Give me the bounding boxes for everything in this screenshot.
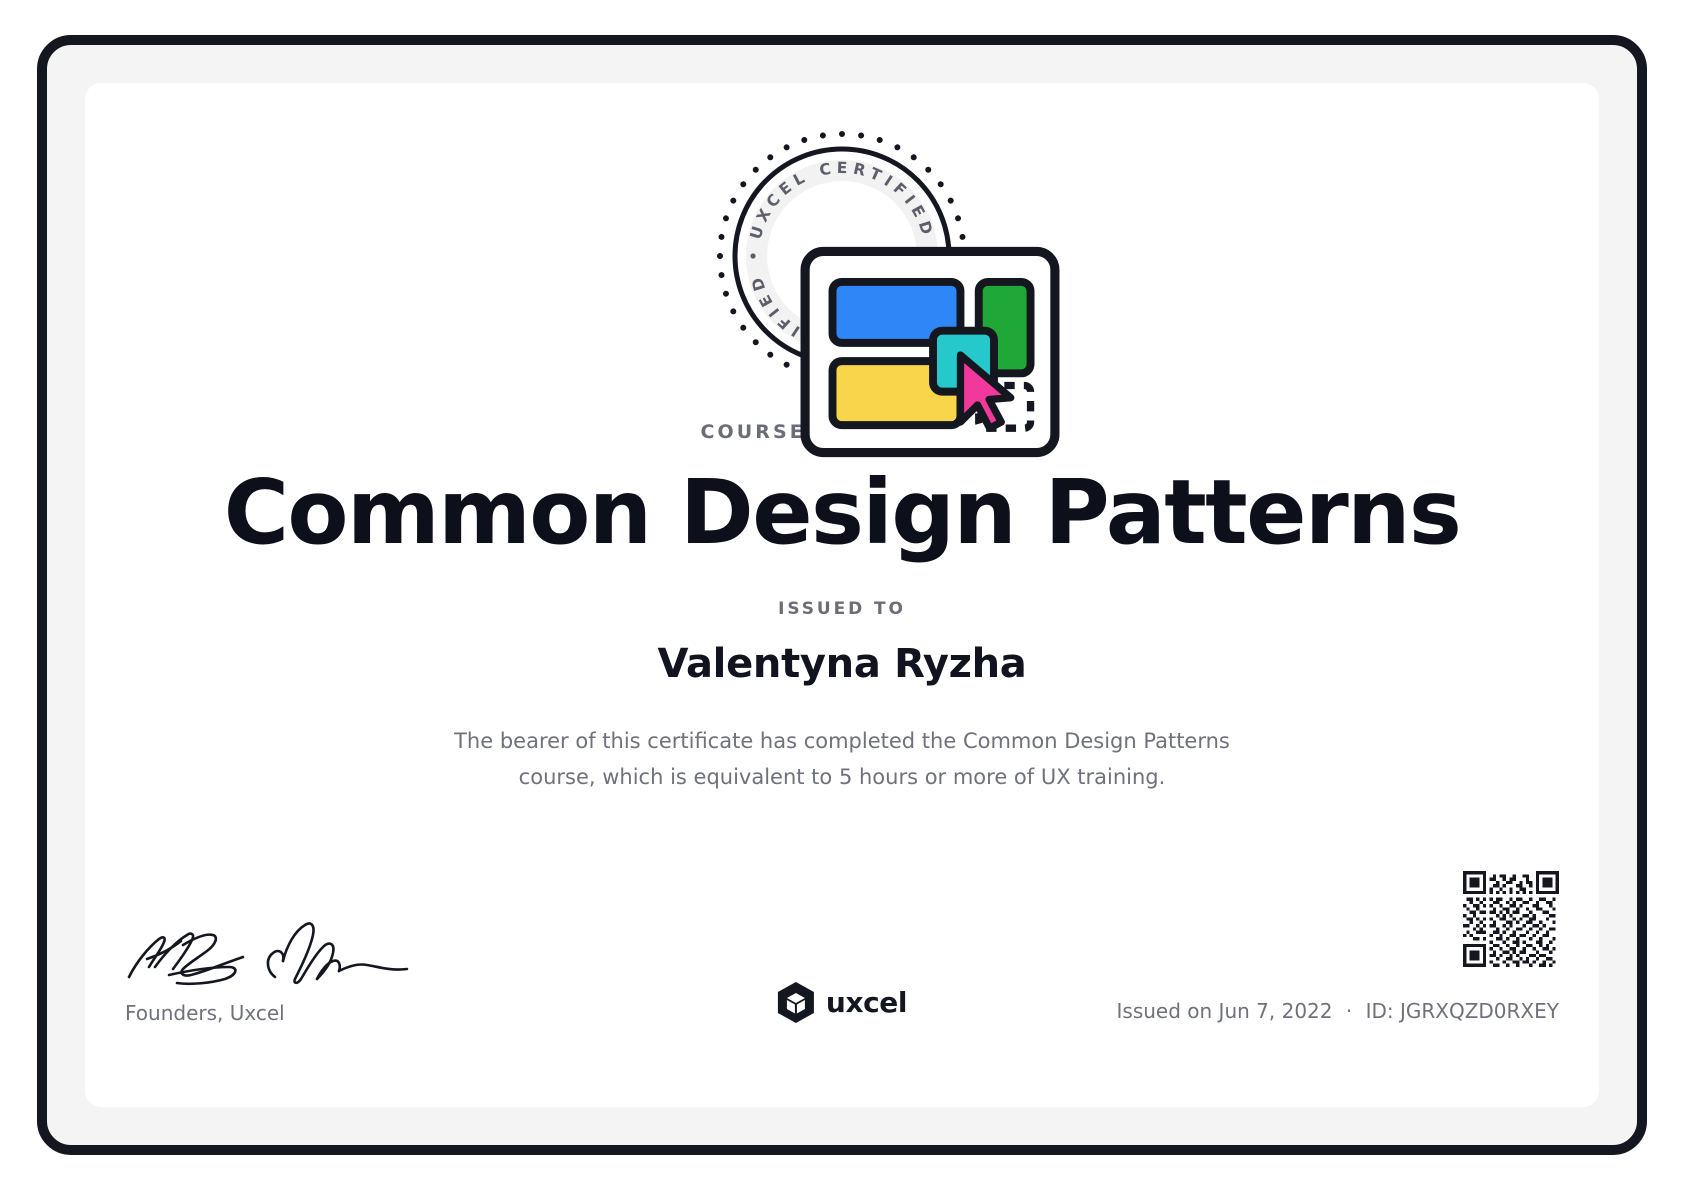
certificate-frame: UXCEL CERTIFIED UXCEL CERTIFIED: [37, 35, 1647, 1155]
design-patterns-layout-icon: [799, 221, 885, 291]
uxcel-cube-hexagon-logo: [777, 982, 815, 1023]
issue-info: Issued on Jun 7, 2022 · ID: JGRXQZD0RXEY: [1117, 999, 1560, 1023]
seal-bullet-left: [750, 253, 755, 258]
body-line-2: course, which is equivalent to 5 hours o…: [519, 765, 1166, 789]
brand-wordmark: uxcel: [826, 986, 907, 1019]
recipient-name: Valentyna Ryzha: [658, 641, 1027, 687]
issue-info-separator: ·: [1339, 999, 1359, 1023]
verification-qr-code[interactable]: [1463, 871, 1559, 967]
certificate-body: The bearer of this certificate has compl…: [442, 723, 1242, 795]
uxcel-brand-logo: uxcel: [777, 982, 907, 1023]
certificate-card: UXCEL CERTIFIED UXCEL CERTIFIED: [85, 83, 1599, 1107]
certificate-id: ID: JGRXQZD0RXEY: [1366, 999, 1559, 1023]
certificate-page: UXCEL CERTIFIED UXCEL CERTIFIED: [0, 0, 1684, 1190]
body-line-1: The bearer of this certificate has compl…: [454, 729, 1230, 753]
founders-label: Founders, Uxcel: [125, 1001, 445, 1025]
founders-signature-image: [125, 905, 415, 989]
signature-block: Founders, Uxcel: [125, 905, 445, 1025]
issued-on-date: Issued on Jun 7, 2022: [1117, 999, 1333, 1023]
issued-to-label: ISSUED TO: [778, 599, 906, 619]
uxcel-certified-seal: UXCEL CERTIFIED UXCEL CERTIFIED: [711, 125, 973, 387]
certificate-footer: Founders, Uxcel uxcel: [85, 899, 1599, 1079]
